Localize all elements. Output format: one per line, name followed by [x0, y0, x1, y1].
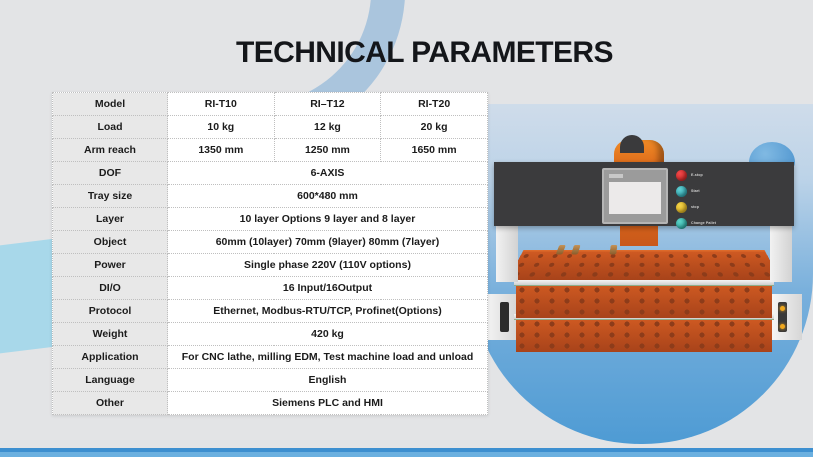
table-row-value: Single phase 220V (110V options)	[168, 254, 488, 277]
control-button-column: E-stop Start stop Change Pallet	[676, 168, 772, 232]
table-row-label: Tray size	[53, 185, 168, 208]
specifications-table: ModelRI-T10RI–T12RI-T20Load10 kg12 kg20 …	[52, 92, 488, 415]
start-button-icon	[676, 186, 687, 197]
tray-top	[507, 250, 780, 280]
table-row: DOF6-AXIS	[53, 162, 488, 185]
table-row-value-2: 1250 mm	[274, 139, 381, 162]
table-row: PowerSingle phase 220V (110V options)	[53, 254, 488, 277]
workpiece-3	[609, 245, 617, 255]
machine-base-left	[486, 294, 516, 340]
table-row-value-1: 10 kg	[168, 116, 275, 139]
table-row: Object60mm (10layer) 70mm (9layer) 80mm …	[53, 231, 488, 254]
base-strip-left	[500, 302, 509, 332]
table-row: Arm reach1350 mm1250 mm1650 mm	[53, 139, 488, 162]
machine-photo: E-stop Start stop Change Pallet	[494, 140, 794, 340]
tray-middle	[516, 282, 772, 318]
page-title: TECHNICAL PARAMETERS	[236, 36, 656, 70]
table-row: DI/O16 Input/16Output	[53, 277, 488, 300]
table-row-value: Siemens PLC and HMI	[168, 392, 488, 415]
hmi-touchscreen[interactable]	[602, 168, 668, 224]
control-button-change-pallet[interactable]: Change Pallet	[676, 216, 772, 230]
table-row-value: 600*480 mm	[168, 185, 488, 208]
control-button-estop[interactable]: E-stop	[676, 168, 772, 182]
table-row-value: 10 layer Options 9 layer and 8 layer	[168, 208, 488, 231]
table-row-label: Arm reach	[53, 139, 168, 162]
table-row-value-2: 12 kg	[274, 116, 381, 139]
machine-column-left	[496, 226, 518, 282]
control-button-stop[interactable]: stop	[676, 200, 772, 214]
bottom-accent-strip	[0, 448, 813, 457]
table-row-value-3: 1650 mm	[381, 139, 488, 162]
slide-canvas: TECHNICAL PARAMETERS	[0, 0, 813, 457]
table-row: Tray size600*480 mm	[53, 185, 488, 208]
table-row: Weight420 kg	[53, 323, 488, 346]
table-header-column-1: RI-T10	[168, 93, 275, 116]
table-row: Load10 kg12 kg20 kg	[53, 116, 488, 139]
table-row-value: 60mm (10layer) 70mm (9layer) 80mm (7laye…	[168, 231, 488, 254]
indicator-lamp-upper	[780, 306, 785, 311]
machine-base-right	[772, 294, 802, 340]
table-header-column-3: RI-T20	[381, 93, 488, 116]
table-row-label: Language	[53, 369, 168, 392]
workpiece-2	[571, 245, 580, 255]
table-row-label: Power	[53, 254, 168, 277]
table-row-label: Other	[53, 392, 168, 415]
table-row: OtherSiemens PLC and HMI	[53, 392, 488, 415]
control-panel: E-stop Start stop Change Pallet	[494, 162, 794, 226]
table-row-label: Weight	[53, 323, 168, 346]
indicator-lamp-lower	[780, 324, 785, 329]
machine-column-right	[770, 226, 792, 282]
table-row: ModelRI-T10RI–T12RI-T20	[53, 93, 488, 116]
table-row-label: Application	[53, 346, 168, 369]
table-header-column-2: RI–T12	[274, 93, 381, 116]
tray-bottom	[516, 316, 772, 352]
table-row: LanguageEnglish	[53, 369, 488, 392]
table-row: ProtocolEthernet, Modbus-RTU/TCP, Profin…	[53, 300, 488, 323]
table-row-label: DI/O	[53, 277, 168, 300]
table-row-label: Load	[53, 116, 168, 139]
table-row-value: 420 kg	[168, 323, 488, 346]
tray-rail-upper	[514, 280, 774, 286]
estop-button-label: E-stop	[691, 173, 703, 177]
table-row-value: 6-AXIS	[168, 162, 488, 185]
control-button-start[interactable]: Start	[676, 184, 772, 198]
table-row: ApplicationFor CNC lathe, milling EDM, T…	[53, 346, 488, 369]
start-button-label: Start	[691, 189, 700, 193]
table-row-value-1: 1350 mm	[168, 139, 275, 162]
table-row-value-3: 20 kg	[381, 116, 488, 139]
hmi-brand-strip	[609, 174, 623, 178]
change-pallet-button-label: Change Pallet	[691, 221, 716, 225]
hmi-screen-display	[609, 182, 661, 214]
table-row-label: Protocol	[53, 300, 168, 323]
table-row-value: English	[168, 369, 488, 392]
table-header-label: Model	[53, 93, 168, 116]
table-row-value: 16 Input/16Output	[168, 277, 488, 300]
stop-button-label: stop	[691, 205, 699, 209]
table-row-label: DOF	[53, 162, 168, 185]
table-row-value: Ethernet, Modbus-RTU/TCP, Profinet(Optio…	[168, 300, 488, 323]
stop-button-icon	[676, 202, 687, 213]
estop-button-icon	[676, 170, 687, 181]
table-row-label: Layer	[53, 208, 168, 231]
specifications-table-body: ModelRI-T10RI–T12RI-T20Load10 kg12 kg20 …	[53, 93, 488, 415]
change-pallet-button-icon	[676, 218, 687, 229]
table-row-label: Object	[53, 231, 168, 254]
table-row: Layer10 layer Options 9 layer and 8 laye…	[53, 208, 488, 231]
workpiece-1	[556, 245, 566, 255]
table-row-value: For CNC lathe, milling EDM, Test machine…	[168, 346, 488, 369]
